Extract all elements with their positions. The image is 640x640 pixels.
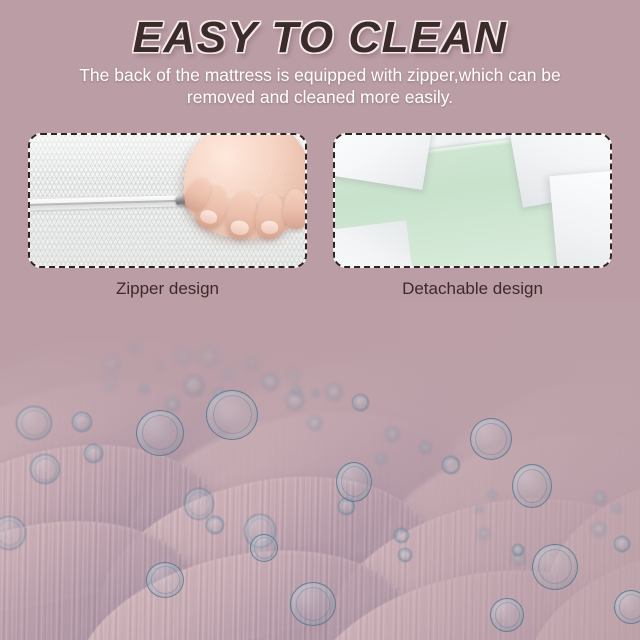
bubble [140, 384, 149, 393]
finger [282, 189, 305, 230]
fingernail [261, 220, 279, 234]
detachable-design-panel[interactable] [333, 133, 612, 268]
bubble [184, 376, 204, 396]
bubble [130, 344, 139, 353]
detachable-design-caption: Detachable design [333, 279, 612, 299]
bubble [478, 528, 489, 539]
bubble [176, 350, 190, 364]
bubble [104, 378, 116, 390]
bubble [30, 454, 60, 484]
bubble [592, 522, 606, 536]
bubble [262, 374, 278, 390]
bubble [476, 506, 483, 513]
bubble [398, 548, 412, 562]
bubble [512, 464, 552, 508]
bubble [104, 356, 120, 372]
bubble [146, 562, 184, 598]
bubble [470, 418, 512, 460]
bubble [184, 488, 214, 520]
cover-flap-bottom-left [335, 220, 415, 266]
bubble [442, 456, 460, 474]
bubble [84, 444, 103, 463]
bubble [532, 544, 578, 590]
bubble [288, 370, 300, 382]
bubble [136, 410, 184, 456]
bubble [312, 390, 319, 397]
bubble [336, 462, 372, 502]
bubble [206, 516, 224, 534]
bubble [594, 492, 606, 504]
fingernail [230, 219, 250, 236]
zipper-design-caption: Zipper design [28, 279, 307, 299]
bubble [250, 534, 278, 562]
bubble [16, 406, 52, 440]
bubble [166, 398, 179, 411]
bubble [246, 358, 258, 370]
infographic-page: EASY TO CLEAN The back of the mattress i… [0, 0, 640, 640]
bubble [394, 528, 409, 543]
bubble [222, 368, 233, 379]
bubble [156, 362, 163, 369]
fiber-bubble-scene [0, 300, 640, 640]
page-title: EASY TO CLEAN [0, 14, 640, 62]
bubble [206, 390, 258, 440]
zipper-design-panel[interactable] [28, 133, 307, 268]
bubble [200, 348, 218, 366]
page-subtitle: The back of the mattress is equipped wit… [50, 64, 590, 108]
bubble [614, 590, 640, 624]
zipper-design-photo [30, 135, 305, 266]
bubble [376, 454, 386, 464]
bubble [326, 384, 342, 400]
cover-flap-right [549, 170, 610, 266]
bubble [308, 416, 322, 430]
bubble [290, 582, 336, 626]
bubble [352, 394, 369, 411]
fingernail [199, 208, 219, 225]
bubble [72, 412, 92, 432]
bubble [490, 598, 524, 632]
bubble [614, 536, 630, 552]
bubble [512, 544, 524, 556]
detachable-design-photo [335, 135, 610, 266]
bubble [612, 504, 621, 513]
bubble [386, 428, 399, 441]
bubble [420, 442, 431, 453]
bubble [292, 386, 301, 395]
bubble [488, 490, 497, 499]
